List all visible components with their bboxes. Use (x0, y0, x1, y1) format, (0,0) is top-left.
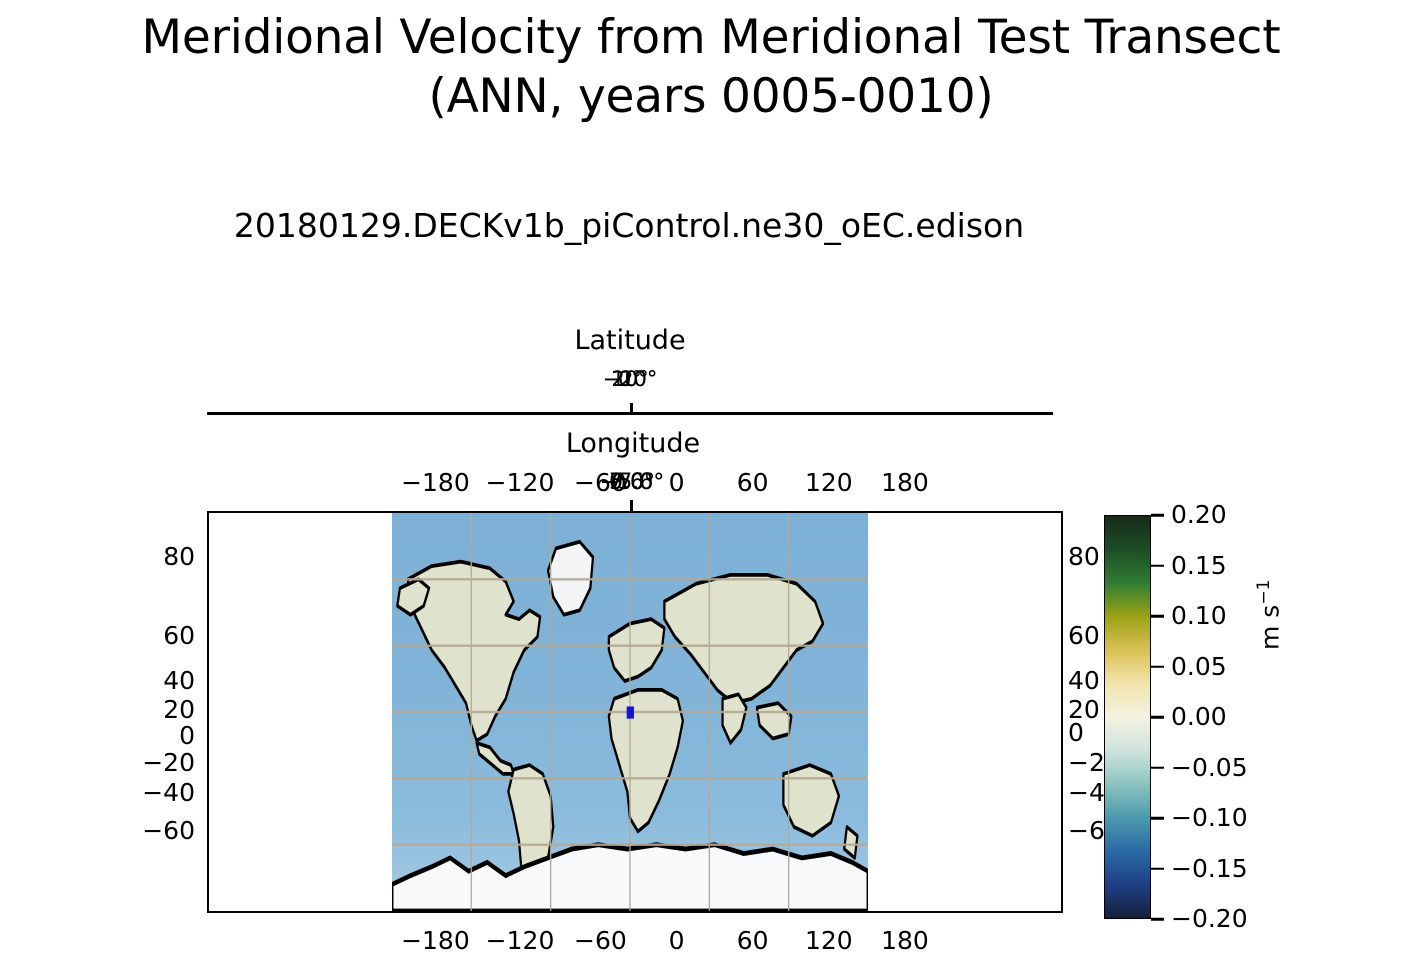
lon-label-bottom: 180 (881, 925, 929, 957)
lon-label-bottom: 60 (737, 925, 769, 957)
colorbar-tick-mark (1151, 716, 1164, 719)
lat-label-right: 80 (1068, 543, 1100, 571)
colorbar-ticklabel: −0.20 (1171, 905, 1248, 933)
colorbar-ticklabel: 0.20 (1171, 501, 1227, 529)
colorbar-tick-mark (1151, 514, 1164, 517)
colorbar-unit-label: m s−1 (1250, 580, 1284, 650)
colorbar-ticklabel: −0.15 (1171, 855, 1248, 883)
lat-label-right: 60 (1068, 622, 1100, 650)
lat-label-right: 40 (1068, 667, 1100, 695)
lon-label-bottom: −180 (401, 925, 470, 957)
colorbar-unit-exponent: −1 (1254, 580, 1274, 605)
colorbar[interactable]: 0.20 0.15 0.10 0.05 0.00 −0.05 −0.10 −0.… (1098, 505, 1422, 935)
colorbar-ticks: 0.20 0.15 0.10 0.05 0.00 −0.05 −0.10 −0.… (1151, 515, 1411, 919)
lat-label-right: 0 (1068, 719, 1084, 747)
colorbar-tick-mark (1151, 615, 1164, 618)
colorbar-ticklabel: 0.10 (1171, 602, 1227, 630)
colorbar-tick-mark (1151, 918, 1164, 921)
colorbar-tick-mark (1151, 867, 1164, 870)
lon-label-bottom: 0 (669, 925, 685, 957)
lon-label-bottom: 120 (805, 925, 853, 957)
colorbar-unit-prefix: m s (1255, 605, 1284, 650)
colorbar-tick-mark (1151, 564, 1164, 567)
colorbar-tick-mark (1151, 665, 1164, 668)
colorbar-ticklabel: −0.10 (1171, 804, 1248, 832)
lon-label-bottom: −120 (486, 925, 555, 957)
colorbar-ticklabel: 0.05 (1171, 653, 1227, 681)
colorbar-gradient[interactable] (1104, 515, 1151, 919)
colorbar-ticklabel: 0.00 (1171, 703, 1227, 731)
colorbar-tick-mark (1151, 817, 1164, 820)
colorbar-ticklabel: −0.05 (1171, 754, 1248, 782)
lon-label-bottom: −60 (574, 925, 627, 957)
colorbar-ticklabel: 0.15 (1171, 552, 1227, 580)
colorbar-tick-mark (1151, 766, 1164, 769)
map-longitude-labels-bottom: −180 −120 −60 0 60 120 180 (207, 925, 1053, 957)
